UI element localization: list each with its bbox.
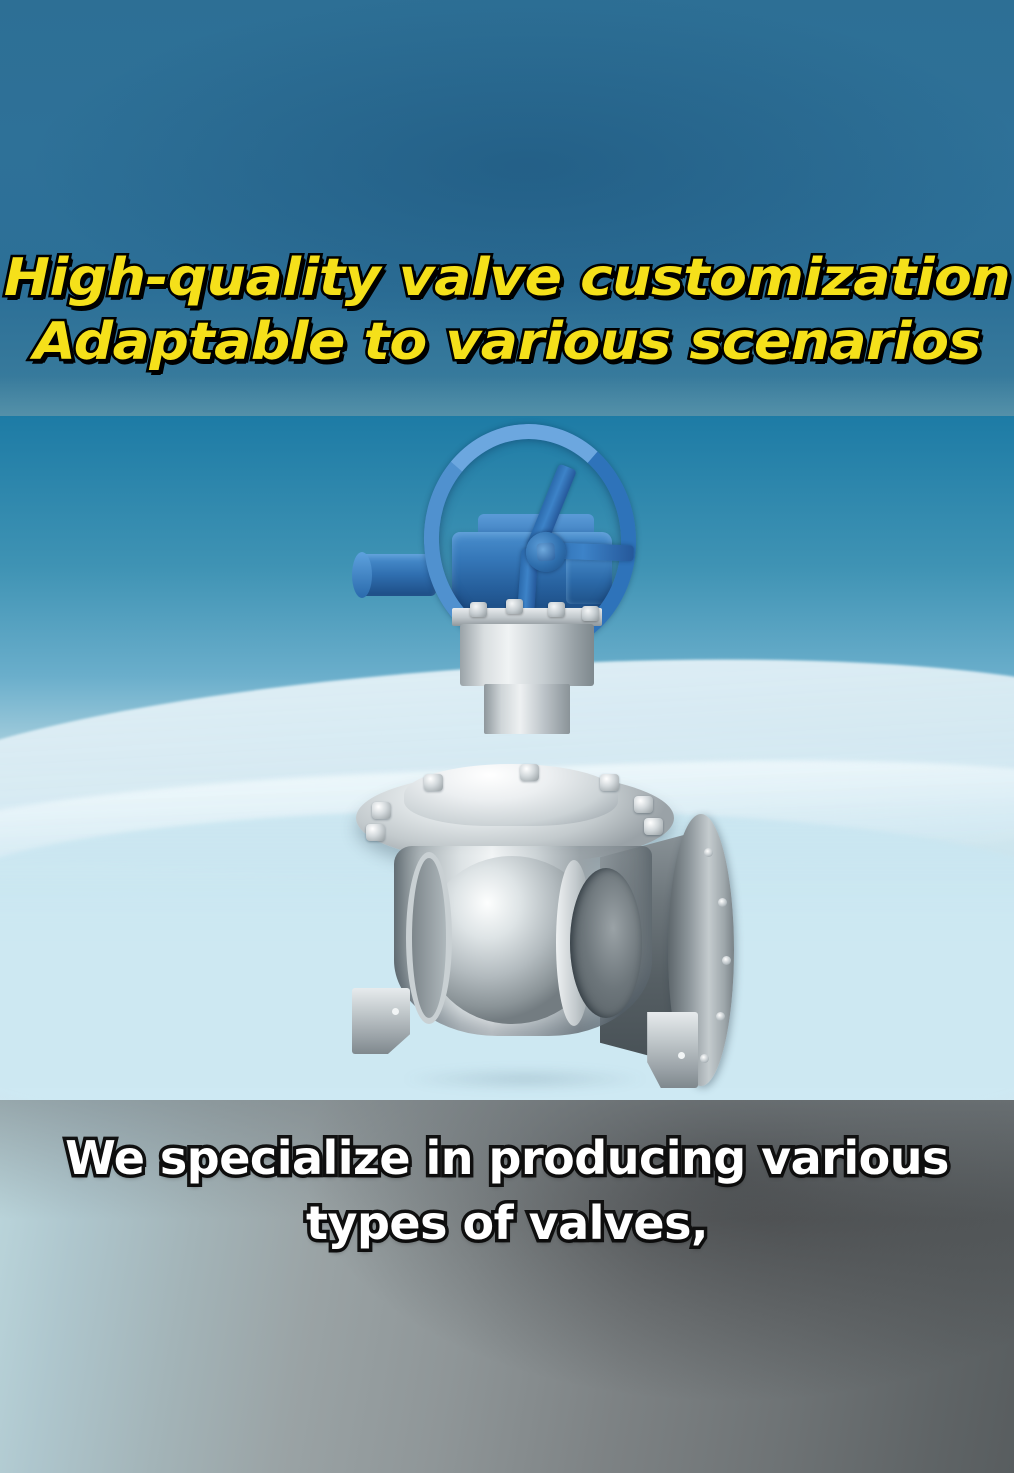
caption-line-2: types of valves, — [0, 1200, 1014, 1246]
foot-hole-right — [678, 1052, 685, 1059]
port-bolt-hole-2 — [718, 898, 727, 907]
flange-bolt-3 — [600, 774, 619, 791]
valve-bore — [570, 868, 642, 1018]
yoke-bolt-3 — [548, 602, 565, 617]
headline-line-1: High-quality valve customization — [0, 252, 1014, 304]
screen: High-quality valve customization Adaptab… — [0, 0, 1014, 1473]
foot-hole-left — [392, 1008, 399, 1015]
flange-bolt-6 — [372, 802, 391, 819]
port-bolt-hole-1 — [704, 848, 713, 857]
valve-yoke — [460, 624, 594, 686]
gearbox-shaft-end-cap — [352, 552, 372, 598]
seat-ring-left — [406, 852, 452, 1024]
ball-valve-assembly — [0, 416, 1014, 1100]
port-bolt-hole-4 — [716, 1012, 725, 1021]
port-bolt-hole-5 — [700, 1054, 709, 1063]
yoke-bolt-4 — [582, 606, 599, 621]
headline-line-2: Adaptable to various scenarios — [0, 316, 1014, 368]
flange-bolt-5 — [644, 818, 663, 835]
flange-bolt-4 — [634, 796, 653, 813]
flange-bolt-1 — [424, 774, 443, 791]
port-bolt-hole-3 — [722, 956, 731, 965]
product-video-area — [0, 416, 1014, 1100]
valve-contact-shadow — [360, 1064, 690, 1094]
valve-stem-collar — [484, 684, 570, 734]
yoke-bolt-1 — [470, 602, 487, 617]
mounting-foot-left — [352, 988, 410, 1054]
flange-bolt-2 — [520, 764, 539, 781]
handwheel-hub-nut — [536, 542, 555, 561]
caption-line-1: We specialize in producing various — [0, 1135, 1014, 1181]
flange-bolt-7 — [366, 824, 385, 841]
yoke-bolt-2 — [506, 599, 523, 614]
